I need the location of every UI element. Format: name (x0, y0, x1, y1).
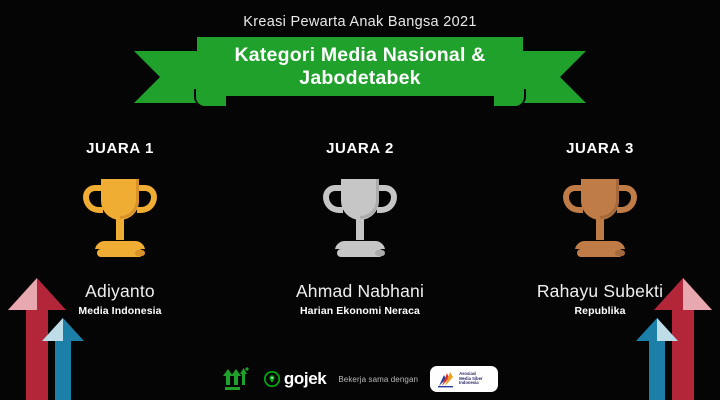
footer-logos: gojek Bekerja sama dengan Asosiasi Media… (0, 366, 720, 392)
rank-label-2: JUARA 2 (326, 140, 394, 157)
rank-label-3: JUARA 3 (566, 140, 634, 157)
ribbon-body: Kategori Media Nasional & Jabodetabek (197, 37, 523, 96)
award-poster: Kreasi Pewarta Anak Bangsa 2021 Kategori… (0, 0, 720, 400)
gojek-logo: gojek (264, 369, 326, 389)
winners-row: JUARA 1 Adiyanto Media Indonesia JUARA 2 (0, 140, 720, 317)
winner-media-2: Harian Ekonomi Neraca (300, 305, 420, 317)
category-title: Kategori Media Nasional & Jabodetabek (207, 44, 513, 90)
winner-media-3: Republika (574, 305, 625, 317)
collab-label: Bekerja sama dengan (338, 375, 418, 384)
amsi-line-3: Indonesia (459, 381, 483, 386)
winner-card-2: JUARA 2 Ahmad Nabhani Harian Ekonomi Ner… (240, 140, 480, 317)
amsi-logo-icon: Asosiasi Media Siber Indonesia (430, 366, 498, 392)
rank-label-1: JUARA 1 (86, 140, 154, 157)
winner-name-2: Ahmad Nabhani (296, 281, 424, 302)
trophy-bronze-icon (557, 171, 643, 263)
winner-media-1: Media Indonesia (78, 305, 161, 317)
kreasi-pewarta-arrows-icon (222, 366, 252, 392)
gojek-pin-icon (264, 371, 280, 387)
amsi-mark-icon (436, 370, 456, 388)
gojek-wordmark: gojek (284, 369, 326, 389)
trophy-gold-icon (77, 171, 163, 263)
event-title: Kreasi Pewarta Anak Bangsa 2021 (0, 14, 720, 30)
category-ribbon: Kategori Media Nasional & Jabodetabek (134, 37, 586, 117)
winner-name-1: Adiyanto (85, 281, 155, 302)
trophy-silver-icon (317, 171, 403, 263)
